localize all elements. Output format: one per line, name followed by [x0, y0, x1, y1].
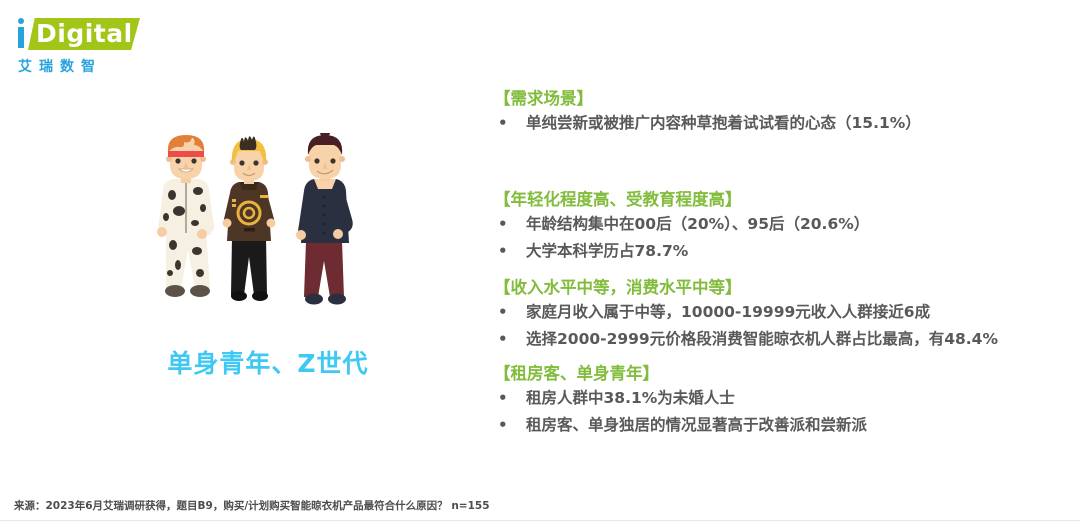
block-bullet-list: • 单纯尝新或被推广内容种草抱着试试看的心态（15.1%） — [494, 110, 1072, 137]
list-item: • 家庭月收入属于中等，10000-19999元收入人群接近6成 — [494, 299, 1072, 326]
block-heading: 【年轻化程度高、受教育程度高】 — [494, 189, 1072, 211]
bullet-dot-icon: • — [494, 299, 526, 326]
list-item: • 大学本科学历占78.7% — [494, 238, 1072, 265]
figure-topknot-youth — [296, 133, 353, 305]
block-heading: 【租房客、单身青年】 — [494, 363, 1072, 385]
brand-logo: Digital 艾瑞数智 — [14, 18, 144, 74]
logo-wordmark-row: Digital — [14, 18, 144, 52]
source-note: 来源：2023年6月艾瑞调研获得，题目B9，购买/计划购买智能晾衣机产品最符合什… — [14, 498, 490, 513]
figure-yellow-cap-youth — [223, 136, 276, 301]
three-youths-illustration — [148, 133, 388, 318]
block-heading: 【收入水平中等，消费水平中等】 — [494, 277, 1072, 299]
bullet-dot-icon: • — [494, 326, 526, 353]
figure-orange-hair-youth — [157, 135, 214, 297]
bullet-dot-icon: • — [494, 110, 526, 137]
bullet-dot-icon: • — [494, 385, 526, 412]
bullet-text: 年龄结构集中在00后（20%）、95后（20.6%） — [526, 211, 1072, 238]
block-bullet-list: • 家庭月收入属于中等，10000-19999元收入人群接近6成 • 选择200… — [494, 299, 1072, 353]
bullet-text: 租房人群中38.1%为未婚人士 — [526, 385, 1072, 412]
list-item: • 年龄结构集中在00后（20%）、95后（20.6%） — [494, 211, 1072, 238]
block-spacer — [494, 353, 1072, 363]
insights-panel: 【需求场景】 • 单纯尝新或被推广内容种草抱着试试看的心态（15.1%） 【年轻… — [494, 88, 1072, 439]
insight-block-income-consumption: 【收入水平中等，消费水平中等】 • 家庭月收入属于中等，10000-19999元… — [494, 277, 1072, 353]
footer-divider — [0, 520, 1080, 521]
insight-block-young-educated: 【年轻化程度高、受教育程度高】 • 年龄结构集中在00后（20%）、95后（20… — [494, 189, 1072, 265]
logo-i-dot-icon — [18, 18, 24, 24]
list-item: • 租房客、单身独居的情况显著高于改善派和尝新派 — [494, 412, 1072, 439]
bullet-text: 租房客、单身独居的情况显著高于改善派和尝新派 — [526, 412, 1072, 439]
list-item: • 选择2000-2999元价格段消费智能晾衣机人群占比最高，有48.4% — [494, 326, 1072, 353]
insight-block-demand-scenario: 【需求场景】 • 单纯尝新或被推广内容种草抱着试试看的心态（15.1%） — [494, 88, 1072, 137]
block-spacer — [494, 137, 1072, 189]
logo-i-stem-icon — [18, 27, 24, 48]
block-spacer — [494, 265, 1072, 277]
logo-word: Digital — [36, 21, 133, 47]
bullet-text: 单纯尝新或被推广内容种草抱着试试看的心态（15.1%） — [526, 110, 1072, 137]
bullet-dot-icon: • — [494, 211, 526, 238]
block-bullet-list: • 租房人群中38.1%为未婚人士 • 租房客、单身独居的情况显著高于改善派和尝… — [494, 385, 1072, 439]
illustration-caption: 单身青年、Z世代 — [108, 344, 428, 380]
slide-canvas: Digital 艾瑞数智 — [0, 0, 1080, 525]
block-heading: 【需求场景】 — [494, 88, 1072, 110]
list-item: • 单纯尝新或被推广内容种草抱着试试看的心态（15.1%） — [494, 110, 1072, 137]
bullet-text: 家庭月收入属于中等，10000-19999元收入人群接近6成 — [526, 299, 1072, 326]
list-item: • 租房人群中38.1%为未婚人士 — [494, 385, 1072, 412]
bullet-dot-icon: • — [494, 238, 526, 265]
bullet-text: 大学本科学历占78.7% — [526, 238, 1072, 265]
bullet-dot-icon: • — [494, 412, 526, 439]
block-bullet-list: • 年龄结构集中在00后（20%）、95后（20.6%） • 大学本科学历占78… — [494, 211, 1072, 265]
logo-subtitle: 艾瑞数智 — [18, 56, 102, 76]
insight-block-renters-singles: 【租房客、单身青年】 • 租房人群中38.1%为未婚人士 • 租房客、单身独居的… — [494, 363, 1072, 439]
bullet-text: 选择2000-2999元价格段消费智能晾衣机人群占比最高，有48.4% — [526, 326, 1072, 353]
